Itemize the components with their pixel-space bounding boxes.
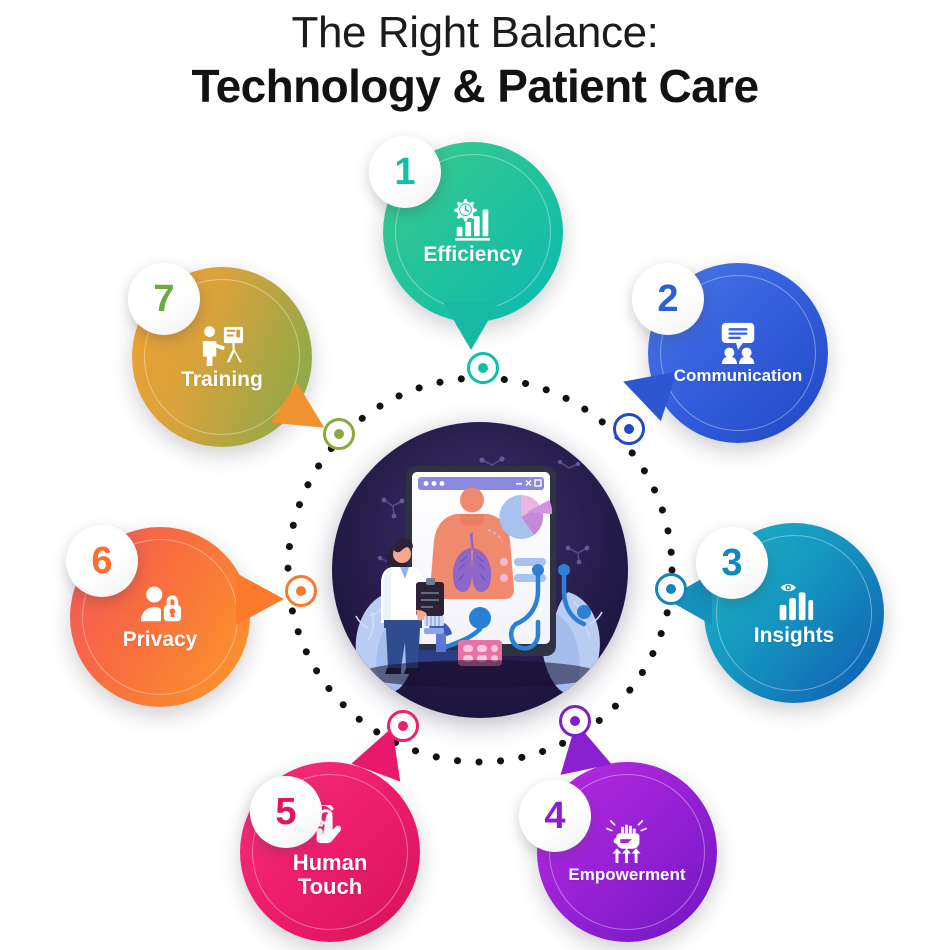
ring-marker-communication-dot [624,424,634,434]
ring-marker-training-dot [334,429,344,439]
healthcare-scene-svg [332,422,628,718]
node-empowerment-badge: 4 [519,780,591,852]
node-training[interactable]: Training 7 [132,267,312,447]
ring-marker-insights[interactable] [655,573,687,605]
node-human-touch[interactable]: Human Touch 5 [240,762,420,942]
node-insights-number: 3 [721,544,742,582]
node-empowerment-number: 4 [544,797,565,835]
ring-marker-insights-dot [666,584,676,594]
center-illustration [332,422,628,718]
node-efficiency[interactable]: Efficiency 1 [383,142,563,322]
node-communication[interactable]: Communication 2 [648,263,828,443]
node-insights-badge: 3 [696,527,768,599]
raised-fist-arrows-icon [602,820,652,864]
ring-marker-privacy[interactable] [285,575,317,607]
node-human-touch-label-line2: Touch [298,874,362,899]
user-lock-icon [135,583,185,627]
ring-marker-human-touch[interactable] [387,710,419,742]
node-communication-label: Communication [668,367,808,385]
ring-marker-human-touch-dot [398,721,408,731]
node-efficiency-badge: 1 [369,136,441,208]
center-illustration-circle [332,422,628,718]
title-line-2: Technology & Patient Care [0,61,950,113]
node-communication-number: 2 [657,280,678,318]
node-empowerment[interactable]: Empowerment 4 [537,762,717,942]
page-title: The Right Balance: Technology & Patient … [0,8,950,113]
infographic-canvas: The Right Balance: Technology & Patient … [0,0,950,950]
ring-marker-efficiency-dot [478,363,488,373]
node-privacy-badge: 6 [66,525,138,597]
node-training-number: 7 [153,280,174,318]
speech-bubble-people-icon [713,321,763,365]
node-insights[interactable]: Insights 3 [704,523,884,703]
ring-marker-privacy-dot [296,586,306,596]
node-training-badge: 7 [128,263,200,335]
node-human-touch-label: Human Touch [287,851,374,899]
node-insights-label: Insights [748,625,841,647]
ring-marker-training[interactable] [323,418,355,450]
node-training-label: Training [175,369,269,391]
node-empowerment-label: Empowerment [562,866,691,884]
eye-bar-chart-icon [769,579,819,623]
node-efficiency-number: 1 [394,153,415,191]
ring-marker-empowerment-dot [570,716,580,726]
node-human-touch-number: 5 [275,793,296,831]
node-efficiency-label: Efficiency [417,244,528,266]
node-privacy[interactable]: Privacy 6 [70,527,250,707]
ring-marker-communication[interactable] [613,413,645,445]
ring-marker-efficiency[interactable] [467,352,499,384]
node-privacy-number: 6 [91,542,112,580]
ring-marker-empowerment[interactable] [559,705,591,737]
node-privacy-label: Privacy [117,629,204,651]
node-communication-badge: 2 [632,263,704,335]
teacher-board-icon [197,323,247,367]
node-human-touch-badge: 5 [250,776,322,848]
node-human-touch-label-line1: Human [293,850,368,875]
title-line-1: The Right Balance: [0,8,950,57]
gear-clock-bar-chart-icon [448,198,498,242]
